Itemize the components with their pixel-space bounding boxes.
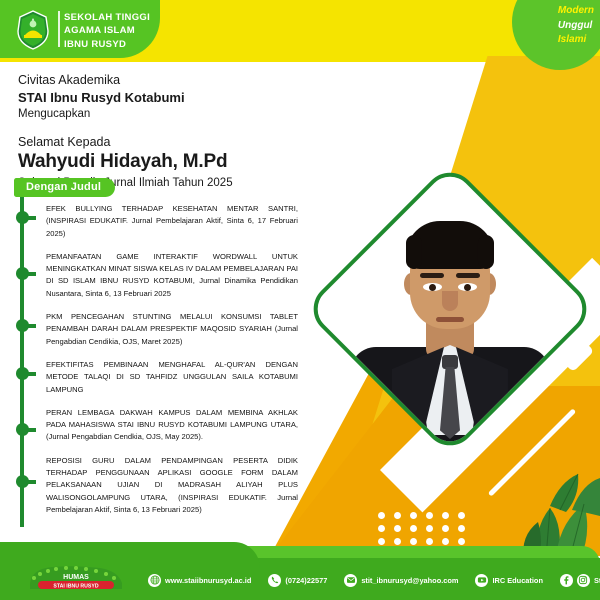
footer-instagram[interactable]: Stai Ibnurusyd [594,576,600,585]
journal-item: PKM PENCEGAHAN STUNTING MELALUI KONSUMSI… [14,311,298,348]
poster-canvas: SEKOLAH TINGGI AGAMA ISLAM IBNU RUSYD Mo… [0,0,600,600]
journal-item: PERAN LEMBAGA DAKWAH KAMPUS DALAM MEMBIN… [14,407,298,444]
footer-contact-row: www.staiibnurusyd.ac.id (0724)22577 stit… [148,571,600,589]
journal-item: EFEK BULLYING TERHADAP KESEHATAN MENTAR … [14,203,298,240]
svg-text:STAI IBNU RUSYD: STAI IBNU RUSYD [53,583,98,589]
tropical-leaves-icon [480,460,600,560]
journal-item: REPOSISI GURU DALAM PENDAMPINGAN PESERTA… [14,455,298,516]
journal-title: PERAN LEMBAGA DAKWAH KAMPUS DALAM MEMBIN… [46,407,298,444]
journal-title: PEMANFAATAN GAME INTERAKTIF WORDWALL UNT… [46,251,298,300]
envelope-icon [344,574,357,587]
instagram-icon[interactable] [577,574,590,587]
journal-item: PEMANFAATAN GAME INTERAKTIF WORDWALL UNT… [14,251,298,300]
footer-youtube[interactable]: IRC Education [492,576,543,585]
announcement-block: Civitas Akademika STAI Ibnu Rusyd Kotabu… [18,72,318,191]
portrait-frame [303,162,597,456]
headline-civitas: Civitas Akademika [18,72,318,89]
svg-text:HUMAS: HUMAS [63,574,89,581]
footer-phone[interactable]: (0724)22577 [285,576,327,585]
tagline-badge: Modern Unggul Islami [558,4,594,48]
footer-website[interactable]: www.staiibnurusyd.ac.id [165,576,251,585]
humas-logo-icon: HUMAS STAI IBNU RUSYD [22,563,130,593]
footer-email[interactable]: stit_ibnurusyd@yahoo.com [361,576,458,585]
tagline-word-unggul: Unggul [558,19,594,34]
journal-title: PKM PENCEGAHAN STUNTING MELALUI KONSUMSI… [46,311,298,348]
headline-stai: STAI Ibnu Rusyd Kotabumi [18,89,318,107]
headline-selamat: Selamat Kepada [18,134,318,151]
institution-line-1: SEKOLAH TINGGI [64,11,150,24]
phone-icon [268,574,281,587]
tagline-word-modern: Modern [558,4,594,19]
journal-list: EFEK BULLYING TERHADAP KESEHATAN MENTAR … [14,203,298,527]
section-label-dengan-judul: Dengan Judul [14,178,115,197]
portrait-image [320,179,580,439]
tagline-word-islami: Islami [558,33,594,48]
institution-line-2: AGAMA ISLAM [64,24,150,37]
journal-title: EFEKTIFITAS PEMBINAAN MENGHAFAL AL-QUR'A… [46,359,298,396]
headline-mengucapkan: Mengucapkan [18,106,318,122]
facebook-icon[interactable] [560,574,573,587]
journal-title: REPOSISI GURU DALAM PENDAMPINGAN PESERTA… [46,455,298,516]
institution-line-3: IBNU RUSYD [64,38,150,51]
portrait-photo [316,175,576,435]
awardee-name: Wahyudi Hidayah, M.Pd [18,150,318,175]
journal-title: EFEK BULLYING TERHADAP KESEHATAN MENTAR … [46,203,298,240]
journal-item: EFEKTIFITAS PEMBINAAN MENGHAFAL AL-QUR'A… [14,359,298,396]
university-logo-icon [12,9,54,51]
institution-name: SEKOLAH TINGGI AGAMA ISLAM IBNU RUSYD [64,11,150,51]
header-divider [58,11,60,47]
youtube-icon[interactable] [475,574,488,587]
globe-icon [148,574,161,587]
